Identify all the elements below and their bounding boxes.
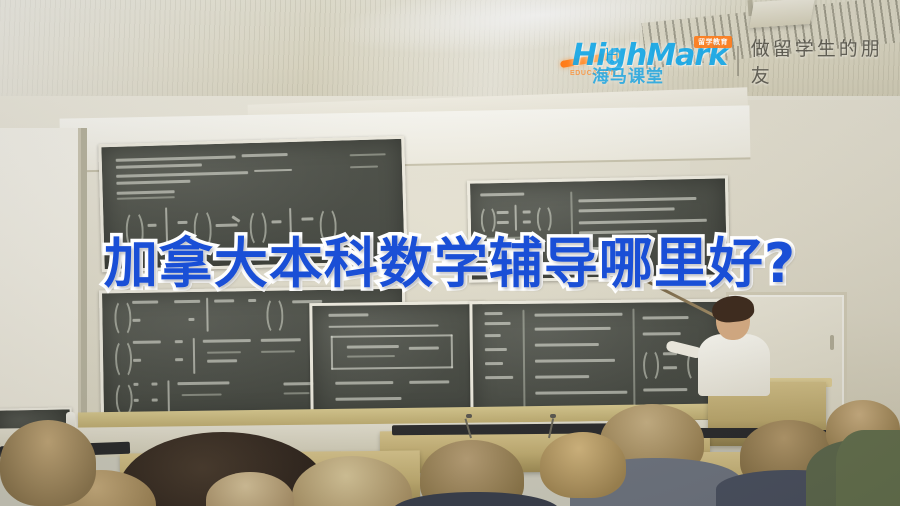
logo-divider (737, 46, 739, 76)
logo-mark: HighMark ♅ 留学教育 EDUCATION 海马课堂 (548, 34, 733, 88)
ceiling-projector (749, 0, 815, 28)
logo-badge: 留学教育 (694, 36, 732, 48)
logo-chinese-name: 海马课堂 (592, 62, 664, 87)
blackboard-lower-middle (309, 301, 486, 421)
door-handle (830, 335, 834, 350)
microphone-head (550, 414, 556, 418)
logo-tagline: 做留学生的朋友 (751, 34, 896, 88)
microphone-head (466, 414, 472, 418)
lecturer (690, 300, 810, 420)
lecturer-shirt (698, 334, 770, 396)
brand-logo[interactable]: HighMark ♅ 留学教育 EDUCATION 海马课堂 做留学生的朋友 (548, 33, 896, 89)
headline-text: 加拿大本科数学辅导哪里好? (0, 234, 900, 294)
lecture-hall-photo: 加拿大本科数学辅导哪里好? HighMark ♅ 留学教育 EDUCATION … (0, 0, 900, 506)
